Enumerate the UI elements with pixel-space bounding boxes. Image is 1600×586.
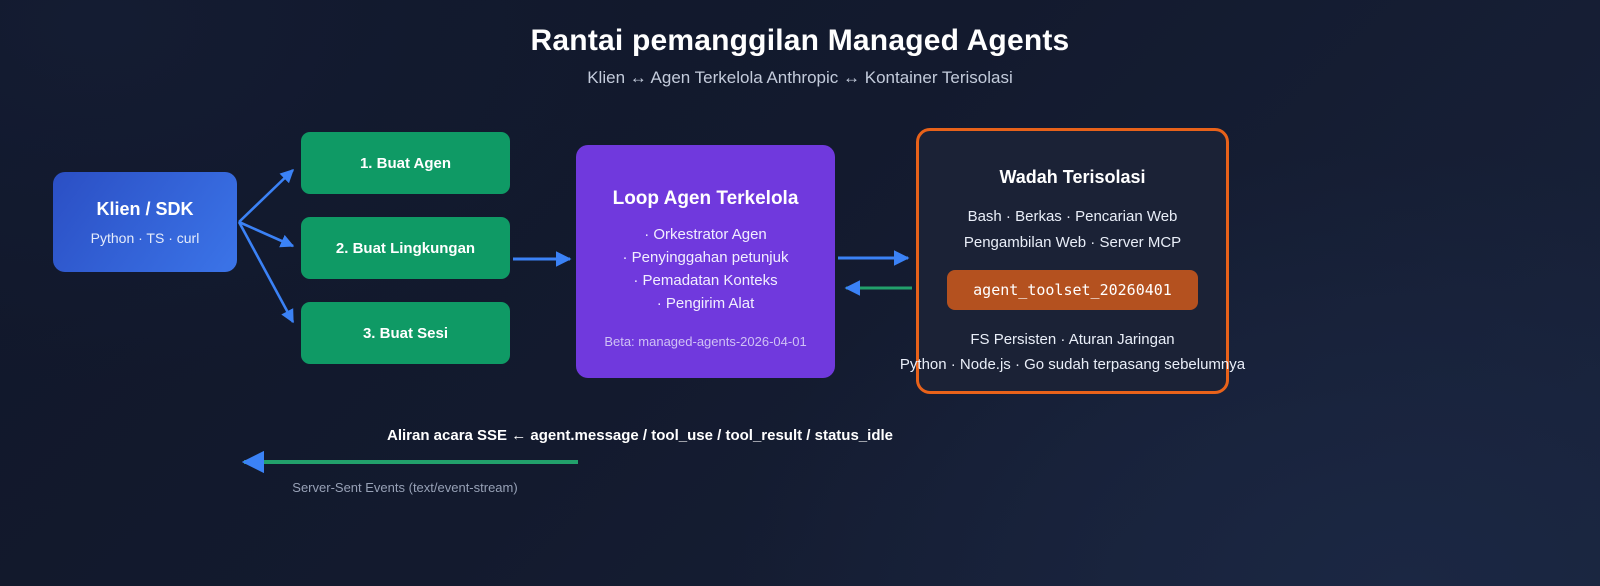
container-title: Wadah Terisolasi — [999, 167, 1145, 188]
node-step-create-agent[interactable]: 1. Buat Agen — [301, 132, 510, 194]
node-step-create-session[interactable]: 3. Buat Sesi — [301, 302, 510, 364]
page-title: Rantai pemanggilan Managed Agents — [0, 24, 1600, 58]
step-3-label: 3. Buat Sesi — [363, 325, 448, 342]
loop-item-orchestrator: · Orkestrator Agen — [623, 226, 789, 243]
container-tools-line-2: Pengambilan Web · Server MCP — [964, 234, 1181, 251]
node-step-create-environment[interactable]: 2. Buat Lingkungan — [301, 217, 510, 279]
loop-title: Loop Agen Terkelola — [613, 188, 799, 210]
loop-item-tool-dispatcher: · Pengirim Alat — [623, 295, 789, 312]
container-features-line-1: FS Persisten · Aturan Jaringan — [970, 331, 1174, 348]
node-isolated-container[interactable]: Wadah Terisolasi Bash · Berkas · Pencari… — [916, 128, 1229, 394]
container-features-line-2: Python · Node.js · Go sudah terpasang se… — [900, 356, 1245, 373]
sse-stream-label: Aliran acara SSE ← agent.message / tool_… — [270, 427, 1010, 444]
container-tools-line-1: Bash · Berkas · Pencarian Web — [968, 208, 1178, 225]
diagram-canvas: Rantai pemanggilan Managed Agents Klien … — [0, 0, 1600, 586]
loop-beta-version: Beta: managed-agents-2026-04-01 — [604, 334, 806, 349]
loop-item-context-compaction: · Pemadatan Konteks — [623, 272, 789, 289]
page-subtitle: Klien ↔ Agen Terkelola Anthropic ↔ Konta… — [0, 68, 1600, 88]
node-managed-agent-loop[interactable]: Loop Agen Terkelola · Orkestrator Agen ·… — [576, 145, 835, 378]
toolset-badge[interactable]: agent_toolset_20260401 — [947, 270, 1198, 310]
step-2-label: 2. Buat Lingkungan — [336, 240, 475, 257]
step-1-label: 1. Buat Agen — [360, 155, 451, 172]
loop-item-prompt-caching: · Penyinggahan petunjuk — [623, 249, 789, 266]
client-subtitle: Python · TS · curl — [91, 230, 200, 246]
client-to-steps-arrows — [239, 170, 293, 322]
loop-feature-list: · Orkestrator Agen · Penyinggahan petunj… — [623, 226, 789, 312]
client-title: Klien / SDK — [96, 199, 193, 220]
sse-stream-caption: Server-Sent Events (text/event-stream) — [180, 480, 630, 495]
node-client-sdk[interactable]: Klien / SDK Python · TS · curl — [53, 172, 237, 272]
